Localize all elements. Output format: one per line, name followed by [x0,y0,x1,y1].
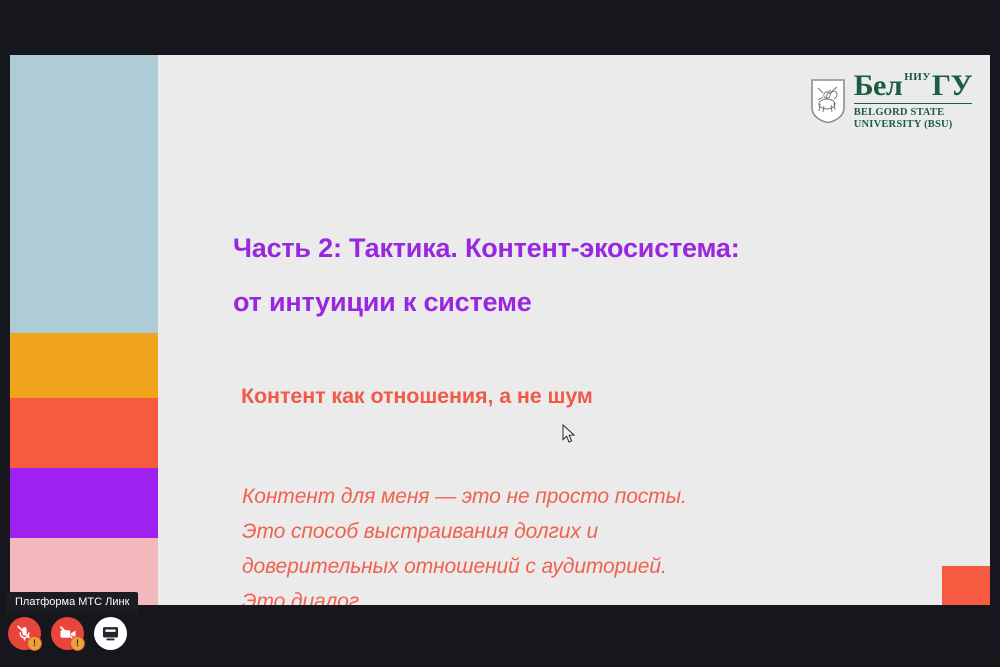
slide-body-text: Контент для меня — это не просто посты. … [242,479,882,605]
logo-brand-bel: Бел [854,71,902,101]
shield-rider-emblem [810,78,846,124]
color-band-purple [10,468,158,538]
shared-slide[interactable]: Бел НИУ ГУ BELGORD STATE UNIVERSITY (BSU… [10,55,990,605]
slide-title-line1: Часть 2: Тактика. Контент-экосистема: [233,233,740,263]
logo-subtitle-line2: UNIVERSITY (BSU) [854,119,953,131]
slide-title-line2: от интуиции к системе [233,289,933,316]
meeting-controls-bar: ! ! [8,617,127,650]
microphone-warning-badge: ! [27,636,42,651]
color-band-orange [10,333,158,398]
logo-subtitle-line1: BELGORD STATE [854,107,953,119]
platform-label: Платформа МТС Линк [6,592,138,613]
slide-title: Часть 2: Тактика. Контент-экосистема: от… [233,235,933,316]
slide-body-line-4: Это диалог. [242,584,882,605]
slide-color-stripe [10,55,158,605]
slide-subtitle: Контент как отношения, а не шум [241,384,941,409]
conference-stage: Бел НИУ ГУ BELGORD STATE UNIVERSITY (BSU… [0,0,1000,667]
camera-warning-badge: ! [70,636,85,651]
slide-body-line-1: Контент для меня — это не просто посты. [242,479,882,514]
logo-brand-niu: НИУ [904,72,931,83]
slide-body-line-2: Это способ выстраивания долгих и [242,514,882,549]
logo-divider [854,103,972,104]
microphone-muted-button[interactable]: ! [8,617,41,650]
color-band-light-blue [10,55,158,333]
color-band-coral [10,398,158,468]
camera-muted-button[interactable]: ! [51,617,84,650]
screen-share-icon [101,624,120,643]
logo-brand-gu: ГУ [932,71,972,101]
university-logo: Бел НИУ ГУ BELGORD STATE UNIVERSITY (BSU… [810,71,972,131]
share-screen-button[interactable] [94,617,127,650]
slide-body-line-3: доверительных отношений с аудиторией. [242,549,882,584]
slide-accent-square [942,566,990,605]
mouse-cursor [562,424,576,444]
